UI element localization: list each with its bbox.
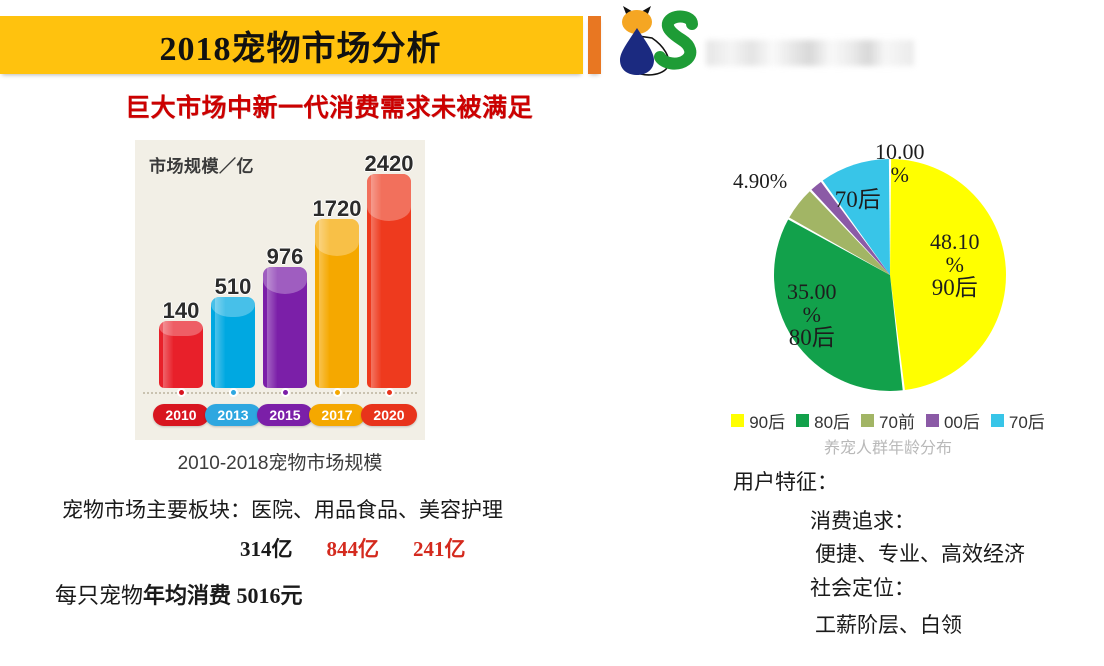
- social-position-value: 工薪阶层、白领: [815, 609, 962, 639]
- bar-column: 140: [159, 321, 203, 388]
- legend-swatch: [731, 414, 744, 427]
- bar-cap: [263, 267, 307, 294]
- pie-slice-label: 10.00%70后: [875, 140, 925, 210]
- bar-column: 510: [211, 297, 255, 388]
- header-band: 2018宠物市场分析: [0, 16, 583, 74]
- bar-column: 2420: [367, 174, 411, 388]
- avg-spend-prefix: 每只宠物: [55, 583, 143, 608]
- pie-chart: 48.10%90后35.00%80后4.90%10.00%70后: [725, 135, 1065, 425]
- consumption-pursuit-heading: 消费追求：: [810, 505, 915, 535]
- pie-slice-label: 48.10%90后: [930, 230, 980, 300]
- bar-chart-caption: 2010-2018宠物市场规模: [135, 448, 425, 475]
- social-position-heading: 社会定位：: [810, 572, 915, 602]
- year-pill-2020[interactable]: 2020: [361, 404, 417, 426]
- legend-label: 90后: [749, 408, 785, 433]
- pie-slice-label: 4.90%: [733, 170, 787, 192]
- axis-marker-dot: [333, 388, 342, 397]
- page-title: 2018宠物市场分析: [0, 16, 583, 74]
- segment-values-row: 314亿844亿241亿: [240, 533, 466, 563]
- brand-text-redacted: [706, 40, 914, 66]
- consumption-pursuit-value: 便捷、专业、高效经济: [815, 538, 1025, 568]
- pie-slice-label: 35.00%80后: [787, 280, 837, 350]
- legend-item-70前[interactable]: 70前: [861, 408, 915, 433]
- segment-value: 844亿: [327, 533, 380, 563]
- legend-swatch: [861, 414, 874, 427]
- bar-cap: [315, 219, 359, 256]
- year-pill-2013[interactable]: 2013: [205, 404, 261, 426]
- bar-fill: [315, 219, 359, 388]
- bar-fill: [159, 321, 203, 388]
- pie-chart-caption: 养宠人群年龄分布: [718, 434, 1058, 458]
- bar-fill: [211, 297, 255, 388]
- bar-fill: [367, 174, 411, 388]
- legend-label: 00后: [944, 408, 980, 433]
- legend-label: 70前: [879, 408, 915, 433]
- legend-label: 80后: [814, 408, 850, 433]
- legend-item-90后[interactable]: 90后: [731, 408, 785, 433]
- subtitle: 巨大市场中新一代消费需求未被满足: [125, 88, 533, 124]
- user-traits-heading: 用户特征：: [733, 466, 838, 496]
- bar-value-label: 1720: [313, 196, 362, 222]
- axis-marker-dot: [281, 388, 290, 397]
- bar-chart-panel: 市场规模／亿 14051097617202420 201020132015201…: [135, 140, 425, 440]
- cat-droplet-s-icon: [608, 2, 704, 76]
- legend-item-70后[interactable]: 70后: [991, 408, 1045, 433]
- slide-root: 2018宠物市场分析 巨大市场中新一代消费需求未被满足 市场规模／亿 14051…: [0, 0, 1104, 666]
- avg-spend-value: 年均消费 5016元: [143, 583, 303, 608]
- bar-value-label: 2420: [365, 151, 414, 177]
- axis-marker-dot: [229, 388, 238, 397]
- year-pill-2010[interactable]: 2010: [153, 404, 209, 426]
- pie-chart-legend: 90后80后70前00后70后: [718, 408, 1058, 433]
- legend-item-80后[interactable]: 80后: [796, 408, 850, 433]
- legend-swatch: [926, 414, 939, 427]
- legend-swatch: [991, 414, 1004, 427]
- avg-spend-line: 每只宠物年均消费 5016元: [55, 578, 303, 610]
- market-segments-line: 宠物市场主要板块：医院、用品食品、美容护理: [62, 494, 503, 524]
- header-accent-strip: [588, 16, 601, 74]
- year-pill-2017[interactable]: 2017: [309, 404, 365, 426]
- bar-column: 976: [263, 267, 307, 388]
- bar-cap: [367, 174, 411, 221]
- segment-value: 314亿: [240, 533, 293, 563]
- bar-fill: [263, 267, 307, 388]
- bar-chart-bars: 14051097617202420: [143, 174, 417, 388]
- brand-logo: [608, 2, 704, 76]
- bar-value-label: 510: [215, 274, 252, 300]
- segment-value: 241亿: [413, 533, 466, 563]
- legend-item-00后[interactable]: 00后: [926, 408, 980, 433]
- legend-swatch: [796, 414, 809, 427]
- axis-marker-dot: [385, 388, 394, 397]
- axis-marker-dot: [177, 388, 186, 397]
- bar-value-label: 140: [163, 298, 200, 324]
- bar-value-label: 976: [267, 244, 304, 270]
- legend-label: 70后: [1009, 408, 1045, 433]
- bar-column: 1720: [315, 219, 359, 388]
- year-pill-2015[interactable]: 2015: [257, 404, 313, 426]
